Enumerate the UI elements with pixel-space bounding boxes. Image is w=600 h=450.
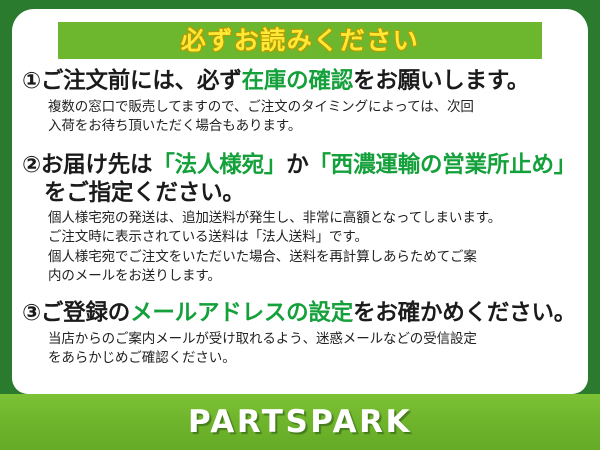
item-3-heading-post: をお確かめください。 (353, 300, 576, 326)
item-2-heading: ②お届け先は「法人様宛」か「西濃運輸の営業所止め」 (22, 151, 578, 180)
notice-item-2: ②お届け先は「法人様宛」か「西濃運輸の営業所止め」 をご指定ください。 個人様宅… (12, 151, 588, 286)
brand-logo: PARTSPARK (188, 407, 412, 438)
item-1-heading-post: をお願いします。 (353, 68, 529, 94)
notice-item-1: ①ご注文前には、必ず在庫の確認をお願いします。 複数の窓口で販売してますので、ご… (12, 67, 588, 137)
item-1-marker: ① (22, 68, 41, 94)
spacer-1 (12, 137, 588, 151)
item-2-heading-accent-2: 「西濃運輸の営業所止め」 (309, 152, 577, 178)
item-3-body-line-1: 当店からのご案内メールが受け取れるよう、迷惑メールなどの受信設定 (48, 330, 578, 349)
notice-content: ①ご注文前には、必ず在庫の確認をお願いします。 複数の窓口で販売してますので、ご… (12, 67, 588, 368)
item-2-heading-mid: か (286, 152, 308, 178)
item-3-body: 当店からのご案内メールが受け取れるよう、迷惑メールなどの受信設定 をあらかじめご… (22, 330, 578, 368)
item-3-heading: ③ご登録のメールアドレスの設定をお確かめください。 (22, 299, 578, 328)
item-3-marker: ③ (22, 300, 41, 326)
item-2-body-line-2: ご注文時に表示されている送料は「法人送料」です。 (48, 228, 578, 247)
item-3-heading-pre: ご登録の (41, 300, 130, 326)
notice-banner: 必ずお読みください ①ご注文前には、必ず在庫の確認をお願いします。 複数の窓口で… (0, 0, 600, 450)
item-2-body-line-4: 内のメールをお送りします。 (48, 267, 578, 286)
item-2-heading-line-2: をご指定ください。 (22, 180, 578, 207)
item-2-heading-pre: お届け先は (41, 152, 153, 178)
spacer-2 (12, 286, 588, 299)
header-bar: 必ずお読みください (58, 22, 542, 59)
notice-item-3: ③ご登録のメールアドレスの設定をお確かめください。 当店からのご案内メールが受け… (12, 299, 588, 369)
item-2-body-line-1: 個人様宅宛の発送は、追加送料が発生し、非常に高額となってしまいます。 (48, 209, 578, 228)
item-1-heading-pre: ご注文前には、必ず (41, 68, 242, 94)
item-3-heading-accent: メールアドレスの設定 (130, 300, 353, 326)
item-1-body-line-2: 入荷をお待ち頂いただく場合もあります。 (48, 117, 578, 136)
white-panel: 必ずお読みください ①ご注文前には、必ず在庫の確認をお願いします。 複数の窓口で… (12, 9, 588, 394)
item-1-body: 複数の窓口で販売してますので、ご注文のタイミングによっては、次回 入荷をお待ち頂… (22, 98, 578, 136)
item-2-body-line-3: 個人様宅宛でご注文をいただいた場合、送料を再計算しあらためてご案 (48, 248, 578, 267)
item-2-body: 個人様宅宛の発送は、追加送料が発生し、非常に高額となってしまいます。 ご注文時に… (22, 209, 578, 286)
item-1-heading-accent: 在庫の確認 (242, 68, 354, 94)
footer-bar: PARTSPARK (0, 394, 600, 450)
item-2-marker: ② (22, 152, 41, 178)
item-2-heading-accent: 「法人様宛」 (152, 152, 286, 178)
header-title: 必ずお読みください (181, 28, 420, 53)
item-1-body-line-1: 複数の窓口で販売してますので、ご注文のタイミングによっては、次回 (48, 98, 578, 117)
item-3-body-line-2: をあらかじめご確認ください。 (48, 349, 578, 368)
item-1-heading: ①ご注文前には、必ず在庫の確認をお願いします。 (22, 67, 578, 96)
